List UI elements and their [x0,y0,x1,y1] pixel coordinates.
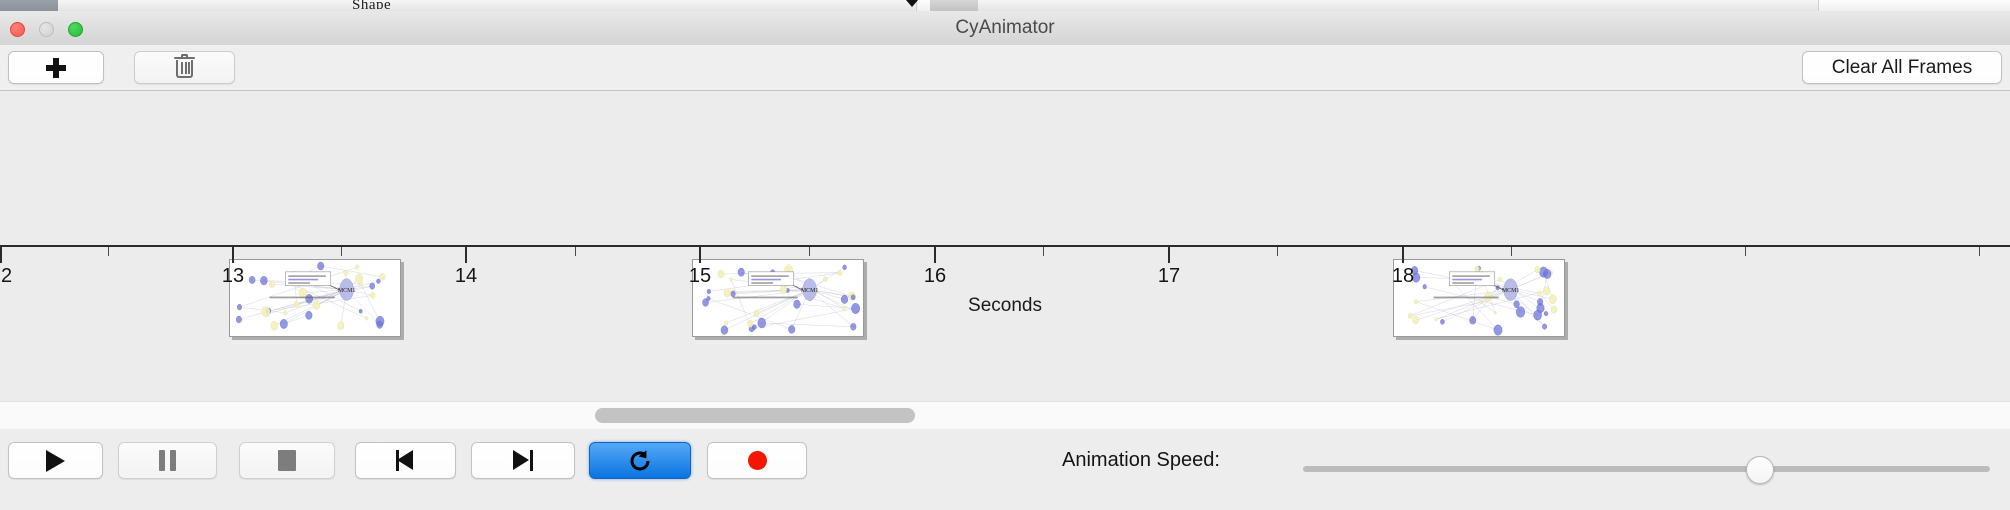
axis-minor-tick [1979,247,1980,256]
bg-caret-icon [906,0,918,7]
bg-segment [930,0,979,11]
svg-text:MCM1: MCM1 [801,288,818,294]
axis-minor-tick [1043,247,1044,256]
pause-icon [159,450,176,471]
bg-segment [0,0,59,11]
animation-speed-slider[interactable] [1303,459,1990,479]
play-icon [46,450,65,472]
axis-tick [232,247,234,263]
last-frame-button[interactable] [471,442,575,479]
axis-tick [1168,247,1170,263]
bg-segment [306,0,917,11]
axis-tick [465,247,467,263]
axis-tick-label: 13 [222,265,244,288]
plus-icon [46,58,66,78]
skip-to-start-icon [396,450,416,471]
skip-to-end-icon [513,450,533,471]
axis-tick-label: 12 [0,265,12,288]
axis-tick-label: 18 [1392,265,1414,288]
pause-button[interactable] [118,442,217,479]
record-icon [748,451,767,470]
loop-icon [627,448,653,474]
clear-all-frames-button[interactable]: Clear All Frames [1802,51,2002,84]
axis-minor-tick [1511,247,1512,256]
bg-segment [58,0,141,11]
window-title: CyAnimator [0,11,2010,45]
axis-tick [934,247,936,263]
axis-minor-tick [341,247,342,256]
trash-icon [176,57,193,78]
axis-title: Seconds [0,295,2010,317]
timeline-scrollbar[interactable] [0,401,2010,430]
bg-segment [140,0,189,11]
svg-text:MCM1: MCM1 [338,288,355,294]
toolbar: Clear All Frames [0,45,2010,91]
axis-tick-label: 17 [1158,265,1180,288]
delete-frame-button[interactable] [134,51,235,84]
axis-tick [1402,247,1404,263]
bg-segment [188,0,249,11]
slider-thumb[interactable] [1746,456,1774,484]
axis-minor-tick [1277,247,1278,256]
playback-bar: Animation Speed: [0,429,2010,510]
axis-tick-label: 14 [455,265,477,288]
background-window-label: Shape [352,0,391,9]
axis-minor-tick [809,247,810,256]
svg-text:MCM1: MCM1 [1502,288,1519,294]
axis-minor-tick [108,247,109,256]
axis-minor-tick [575,247,576,256]
bg-segment [978,0,1819,11]
stop-icon [278,450,296,471]
cyanimator-window: Shape CyAnimator Clear All Frames MCM1MC… [0,0,2010,510]
axis-minor-tick [1745,247,1746,256]
play-button[interactable] [8,442,103,479]
timeline-axis [0,245,2010,247]
first-frame-button[interactable] [355,442,456,479]
loop-button[interactable] [589,442,691,479]
bg-segment [248,0,307,11]
timeline-panel[interactable]: MCM1MCM1MCM1 12131415161718 Seconds [0,91,2010,401]
axis-tick-label: 16 [924,265,946,288]
axis-tick [0,247,2,263]
clear-all-frames-label: Clear All Frames [1832,57,1972,79]
add-frame-button[interactable] [8,51,104,84]
animation-speed-label: Animation Speed: [1062,442,1220,479]
stop-button[interactable] [239,442,335,479]
scrollbar-thumb[interactable] [595,408,915,423]
axis-tick [699,247,701,263]
axis-tick-label: 15 [689,265,711,288]
title-bar: CyAnimator [0,11,2010,46]
slider-track [1303,466,1990,472]
record-button[interactable] [707,442,807,479]
